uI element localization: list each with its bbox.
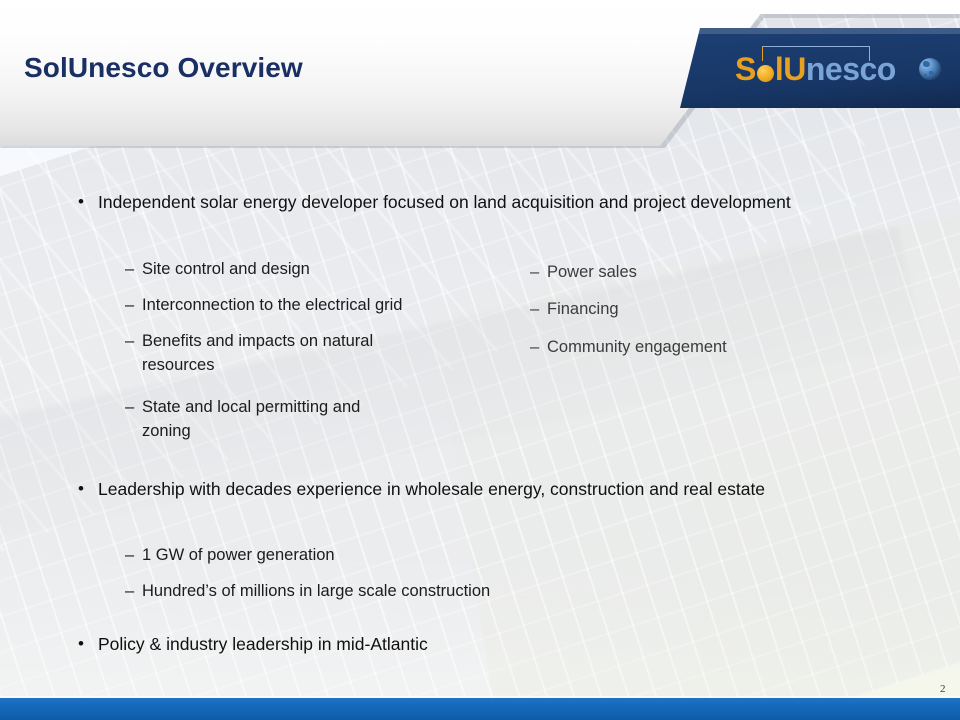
bullet-text: Benefits and impacts on natural resource… — [142, 329, 373, 377]
bullet-marker: • — [78, 477, 98, 501]
slide: SolUnesco Overview SlUnesco • Independen… — [0, 0, 960, 720]
logo-letter-s: S — [735, 51, 756, 87]
bullet-item: – Site control and design — [125, 257, 505, 281]
bullet-item: – 1 GW of power generation — [125, 543, 545, 567]
bullet-marker: • — [78, 190, 98, 214]
bullet-text: Leadership with decades experience in wh… — [98, 477, 765, 501]
logo-letters-nesco: nesco — [806, 51, 896, 87]
bullet-item: – Benefits and impacts on natural resour… — [125, 329, 455, 377]
bullet-marker: – — [125, 543, 142, 567]
bullet-item: – Power sales — [530, 260, 860, 284]
bullet-marker: – — [125, 579, 142, 603]
bullet-marker: – — [530, 260, 547, 284]
bullet-text: Independent solar energy developer focus… — [98, 190, 791, 214]
bullet-marker: – — [125, 395, 142, 419]
bullet-item: • Leadership with decades experience in … — [78, 477, 828, 501]
bullet-text: Site control and design — [142, 257, 310, 281]
bullet-text: Community engagement — [547, 335, 727, 359]
bullet-item: • Independent solar energy developer foc… — [78, 190, 838, 214]
page-number: 2 — [940, 683, 946, 695]
bullet-text: 1 GW of power generation — [142, 543, 335, 567]
bullet-item: – State and local permitting and zoning — [125, 395, 455, 443]
bullet-text: Hundred’s of millions in large scale con… — [142, 579, 490, 603]
bullet-marker: – — [530, 297, 547, 321]
bullet-item: • Policy & industry leadership in mid-At… — [78, 632, 678, 656]
bullet-text: Financing — [547, 297, 619, 321]
sun-icon — [757, 65, 774, 82]
bullet-marker: – — [125, 257, 142, 281]
bullet-item: – Financing — [530, 297, 860, 321]
bullet-marker: • — [78, 632, 98, 656]
slide-body: • Independent solar energy developer foc… — [0, 148, 960, 698]
bullet-marker: – — [530, 335, 547, 359]
bullet-text: Policy & industry leadership in mid-Atla… — [98, 632, 428, 656]
bullet-item: – Community engagement — [530, 335, 860, 359]
globe-icon — [919, 58, 941, 80]
page-title: SolUnesco Overview — [24, 52, 303, 84]
bullet-text: State and local permitting and zoning — [142, 395, 360, 443]
bullet-item: – Hundred’s of millions in large scale c… — [125, 579, 645, 603]
solunesco-logo[interactable]: SlUnesco — [735, 48, 896, 90]
logo-letters-lu: lU — [775, 51, 806, 87]
bullet-text: Power sales — [547, 260, 637, 284]
bullet-text: Interconnection to the electrical grid — [142, 293, 402, 317]
bullet-item: – Interconnection to the electrical grid — [125, 293, 505, 317]
bullet-marker: – — [125, 329, 142, 353]
footer-bar — [0, 698, 960, 720]
bullet-marker: – — [125, 293, 142, 317]
